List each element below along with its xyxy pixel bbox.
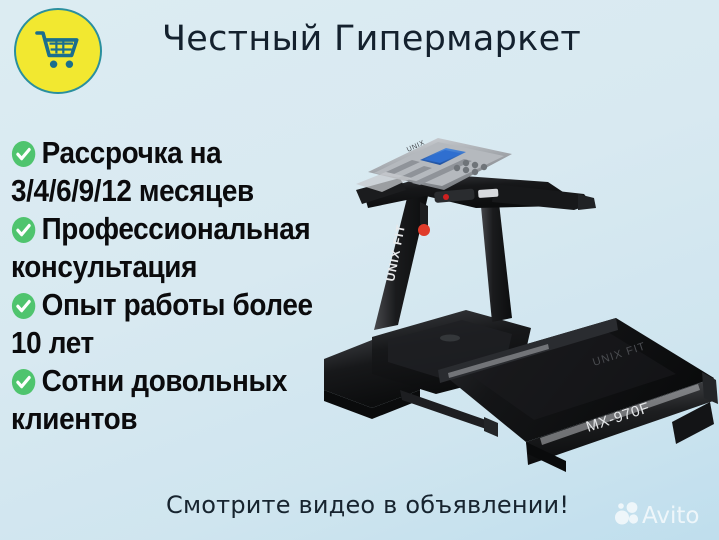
banner-header: Честный Гипермаркет xyxy=(0,0,719,100)
list-item: Сотни довольных клиентов xyxy=(11,362,361,438)
feature-text: консультация xyxy=(11,248,326,286)
ad-banner: Честный Гипермаркет Рассрочка на 3/4/6/9… xyxy=(0,0,719,540)
page-title: Честный Гипермаркет xyxy=(162,17,581,61)
list-item: Профессиональная консультация xyxy=(11,210,361,286)
check-circle-icon xyxy=(11,140,36,168)
check-circle-icon xyxy=(11,216,36,244)
feature-text: Опыт работы более xyxy=(42,287,313,322)
feature-text: Рассрочка на xyxy=(42,135,222,170)
shop-logo-badge xyxy=(14,8,102,94)
feature-text: Профессиональная xyxy=(42,211,311,246)
feature-text: 3/4/6/9/12 месяцев xyxy=(11,172,326,210)
check-circle-icon xyxy=(11,292,36,320)
list-item: Опыт работы более 10 лет xyxy=(11,286,361,362)
feature-text: Сотни довольных xyxy=(42,363,287,398)
avito-watermark-logo: Avito xyxy=(614,498,712,528)
footer-caption: Смотрите видео в объявлении! xyxy=(166,490,569,520)
list-item: Рассрочка на 3/4/6/9/12 месяцев xyxy=(11,134,361,210)
check-circle-icon xyxy=(11,368,36,396)
avito-wordmark: Avito xyxy=(642,503,699,528)
feature-text: 10 лет xyxy=(11,324,326,362)
treadmill-photo: MX-970F UNIX FIT UNIX FIT xyxy=(316,132,719,480)
feature-list: Рассрочка на 3/4/6/9/12 месяцев Професси… xyxy=(11,134,361,438)
shopping-cart-icon xyxy=(31,24,85,78)
feature-text: клиентов xyxy=(11,400,326,438)
